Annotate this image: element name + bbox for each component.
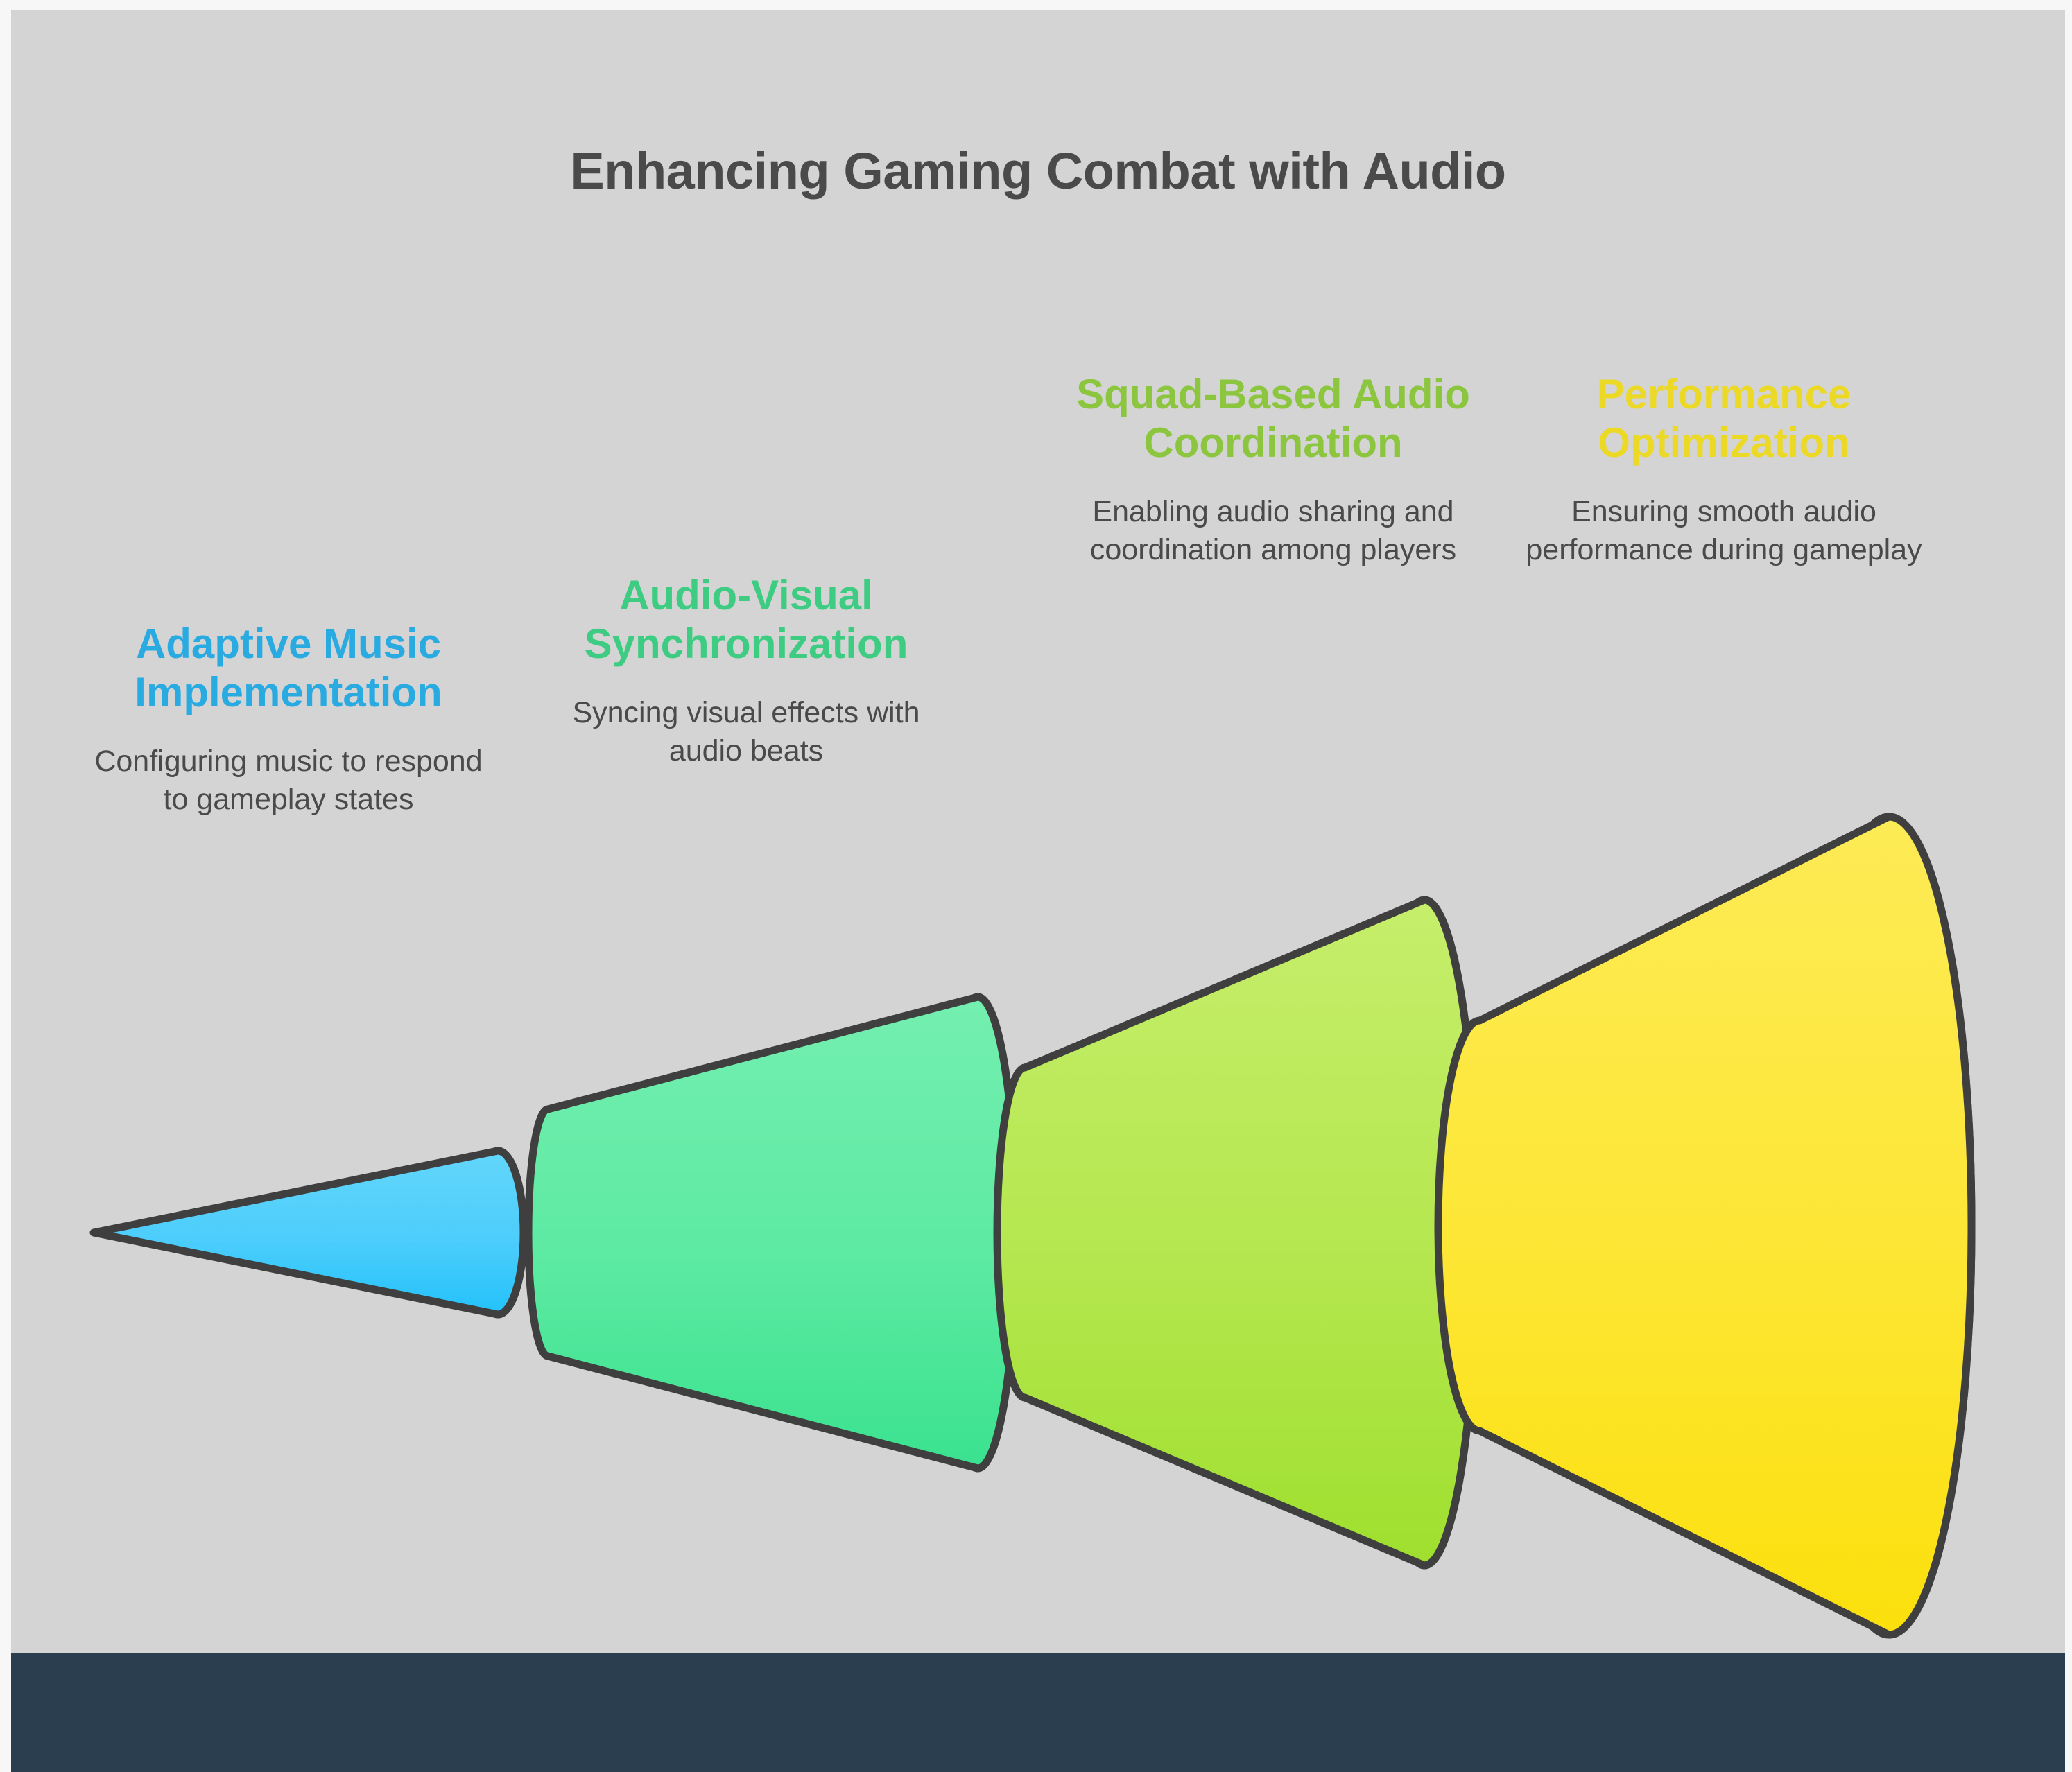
stage-title-1: Adaptive Music Implementation [87, 620, 490, 716]
stage-label-4[interactable]: Performance Optimization Ensuring smooth… [1523, 370, 1925, 568]
stage-title-4: Performance Optimization [1523, 370, 1925, 467]
stage-label-3[interactable]: Squad-Based Audio Coordination Enabling … [1058, 370, 1488, 568]
page-title: Enhancing Gaming Combat with Audio [11, 141, 2065, 200]
stage-description-1: Configuring music to respond to gameplay… [87, 742, 490, 818]
stage-label-1[interactable]: Adaptive Music Implementation Configurin… [87, 620, 490, 818]
stage-description-4: Ensuring smooth audio performance during… [1523, 493, 1925, 568]
funnel-segment-3[interactable] [997, 900, 1477, 1565]
funnel-segment-4[interactable] [1438, 817, 1971, 1635]
stage-description-3: Enabling audio sharing and coordination … [1058, 493, 1488, 568]
stage-title-2: Audio-Visual Synchronization [545, 571, 947, 668]
footer-bar [0, 1653, 2072, 1772]
stage-label-2[interactable]: Audio-Visual Synchronization Syncing vis… [545, 571, 947, 770]
stage-title-3: Squad-Based Audio Coordination [1058, 370, 1488, 467]
stage-description-2: Syncing visual effects with audio beats [545, 694, 947, 770]
infographic-canvas: Enhancing Gaming Combat with Audio [0, 0, 2072, 1772]
funnel-cone-chart [0, 0, 2072, 1772]
funnel-segment-2[interactable] [528, 997, 1016, 1468]
funnel-segment-1[interactable] [94, 1151, 524, 1314]
